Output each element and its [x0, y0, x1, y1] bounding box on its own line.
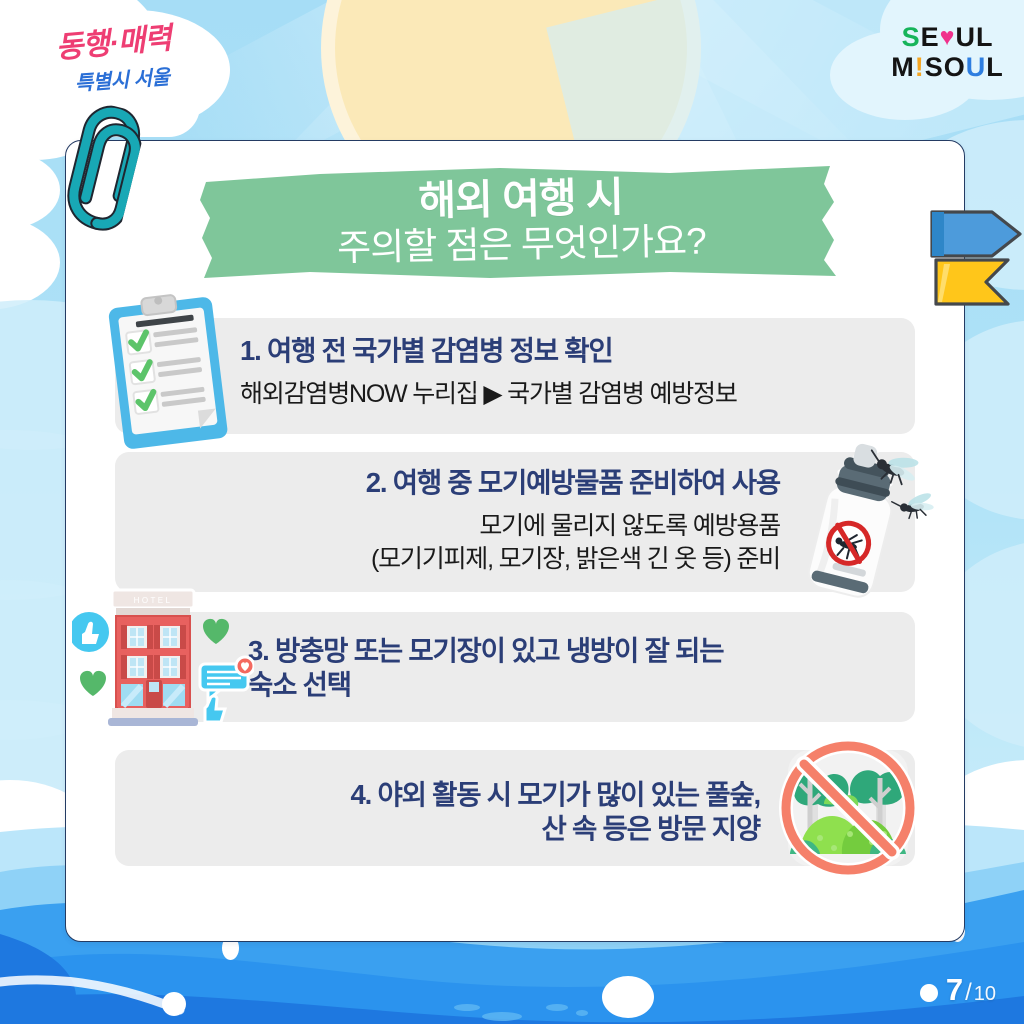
smile-u-icon: U [966, 54, 986, 81]
title-text-block: 해외 여행 시 주의할 점은 무엇인가요? [199, 154, 843, 290]
water-dash [576, 1010, 588, 1016]
logo-char-l2: L [986, 54, 1003, 81]
item-text-3: 3. 방충망 또는 모기장이 있고 냉방이 잘 되는 숙소 선택 [248, 634, 908, 702]
item-heading-4: 4. 야외 활동 시 모기가 많이 있는 풀숲, 산 속 등은 방문 지양 [160, 778, 760, 846]
no-forest-icon [772, 738, 924, 890]
clipboard-checklist-icon [98, 292, 238, 452]
foam-bubble [920, 984, 938, 1002]
page-indicator: 7 / 10 [946, 972, 996, 1008]
item-text-2: 2. 여행 중 모기예방물품 준비하여 사용 모기에 물리지 않도록 예방용품 … [160, 466, 780, 575]
item-subline-2-0: 모기에 물리지 않도록 예방용품 [160, 510, 780, 543]
logo-char-s: S [902, 24, 920, 51]
item-subline-1-0: 해외감염병NOW 누리집 ▶ 국가별 감염병 예방정보 [240, 378, 900, 411]
infographic-poster: 해외 여행 시 주의할 점은 무엇인가요? 1. 여행 전 국가별 감염병 정보… [0, 0, 1024, 1024]
item-heading-3: 3. 방충망 또는 모기장이 있고 냉방이 잘 되는 숙소 선택 [248, 634, 908, 702]
water-dash [482, 1012, 522, 1021]
hotel-building-icon: HOTEL [72, 578, 254, 740]
title-line-1: 해외 여행 시 [418, 176, 623, 223]
item-heading-2: 2. 여행 중 모기예방물품 준비하여 사용 [160, 466, 780, 500]
hotel-sign-label: HOTEL [134, 596, 173, 605]
logo-char-l: L [976, 24, 993, 51]
exclamation-icon: ! [915, 54, 924, 81]
logo-char-m: M [891, 54, 914, 81]
logo-line-2: M ! S O U L [884, 54, 1010, 81]
title-banner: 해외 여행 시 주의할 점은 무엇인가요? [200, 160, 842, 284]
seoul-brand-logo: 동행·매력 특별시 서울 [18, 18, 208, 98]
title-line-2: 주의할 점은 무엇인가요? [337, 221, 706, 270]
water-dash [546, 1004, 568, 1011]
insect-repellent-spray-icon [782, 438, 942, 598]
logo-char-u: U [955, 24, 975, 51]
logo-char-e: E [921, 24, 939, 51]
logo-char-o: O [944, 54, 965, 81]
logo-line-1: S E ♥ U L [884, 24, 1010, 51]
heart-icon: ♥ [940, 25, 955, 50]
item-text-4: 4. 야외 활동 시 모기가 많이 있는 풀숲, 산 속 등은 방문 지양 [160, 778, 760, 846]
foam-bubble [162, 992, 186, 1016]
item-subline-2-1: (모기기피제, 모기장, 밝은색 긴 옷 등) 준비 [160, 543, 780, 576]
foam-bubble [602, 976, 654, 1018]
water-dash [454, 1004, 480, 1011]
item-heading-1: 1. 여행 전 국가별 감염병 정보 확인 [240, 334, 900, 368]
page-separator: / [965, 979, 972, 1007]
page-current: 7 [946, 972, 963, 1008]
cloud [0, 215, 60, 310]
page-total: 10 [974, 983, 996, 1006]
seoul-my-soul-logo: S E ♥ U L M ! S O U L [884, 24, 1010, 90]
logo-char-s2: S [925, 54, 943, 81]
arrow-tab-decoration [930, 208, 1024, 308]
item-text-1: 1. 여행 전 국가별 감염병 정보 확인 해외감염병NOW 누리집 ▶ 국가별… [240, 334, 900, 411]
